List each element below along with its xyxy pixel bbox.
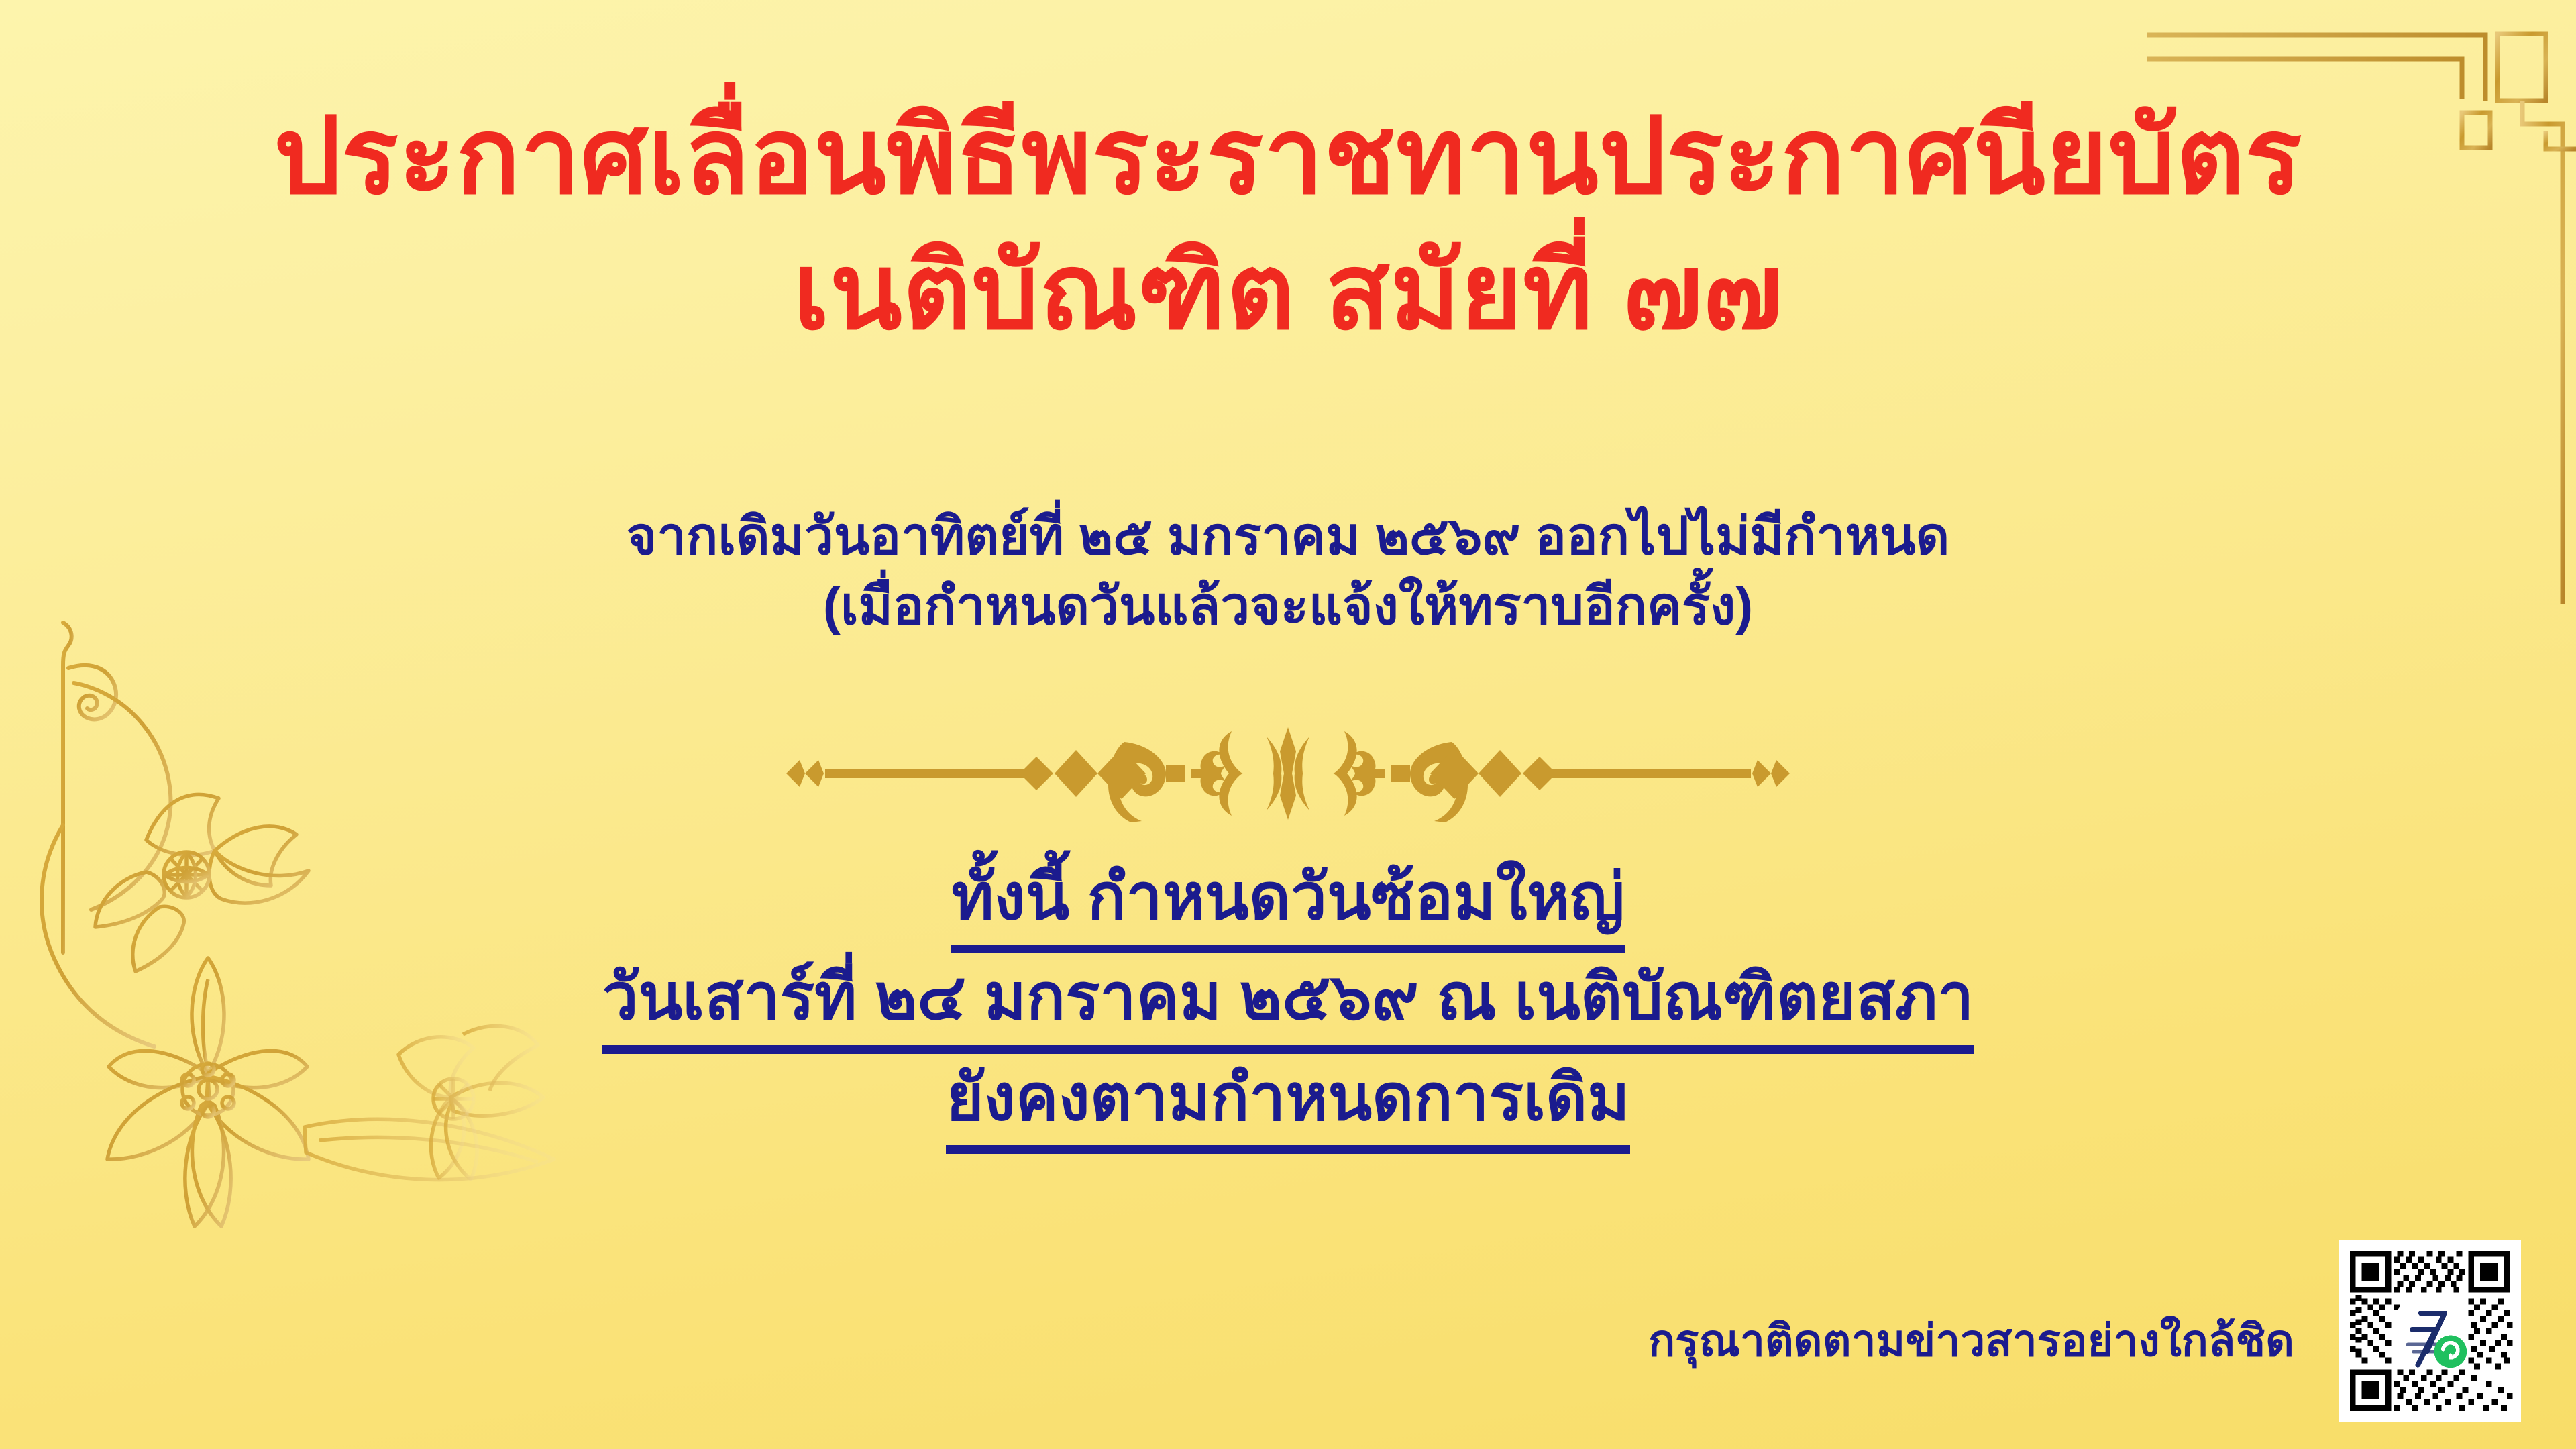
poster-title: ประกาศเลื่อนพิธีพระราชทานประกาศนียบัตร เ… [0,89,2576,360]
notice-line-2: วันเสาร์ที่ ๒๔ มกราคม ๒๕๖๙ ณ เนติบัณฑิตย… [0,953,2576,1053]
ornamental-divider-icon [0,723,2576,824]
notice-line-1-text: ทั้งนี้ กำหนดวันซ้อมใหญ่ [951,853,1624,953]
poster-subtitle: จากเดิมวันอาทิตย์ที่ ๒๕ มกราคม ๒๕๖๙ ออกไ… [0,502,2576,641]
notice-line-1: ทั้งนี้ กำหนดวันซ้อมใหญ่ [0,853,2576,953]
subtitle-line-2: (เมื่อกำหนดวันแล้วจะแจ้งให้ทราบอีกครั้ง) [0,572,2576,641]
rehearsal-notice: ทั้งนี้ กำหนดวันซ้อมใหญ่ วันเสาร์ที่ ๒๔ … [0,853,2576,1154]
announcement-poster: ประกาศเลื่อนพิธีพระราชทานประกาศนียบัตร เ… [0,0,2576,1449]
notice-line-2-text: วันเสาร์ที่ ๒๔ มกราคม ๒๕๖๙ ณ เนติบัณฑิตย… [602,953,1974,1053]
follow-news-note: กรุณาติดตามข่าวสารอย่างใกล้ชิด [1648,1305,2294,1376]
title-line-2: เนติบัณฑิต สมัยที่ ๗๗ [0,224,2576,360]
qr-code-icon[interactable] [2339,1240,2521,1422]
notice-line-3: ยังคงตามกำหนดการเดิม [0,1054,2576,1154]
title-line-1: ประกาศเลื่อนพิธีพระราชทานประกาศนียบัตร [0,89,2576,224]
notice-line-3-text: ยังคงตามกำหนดการเดิม [946,1054,1629,1154]
subtitle-line-1: จากเดิมวันอาทิตย์ที่ ๒๕ มกราคม ๒๕๖๙ ออกไ… [0,502,2576,572]
